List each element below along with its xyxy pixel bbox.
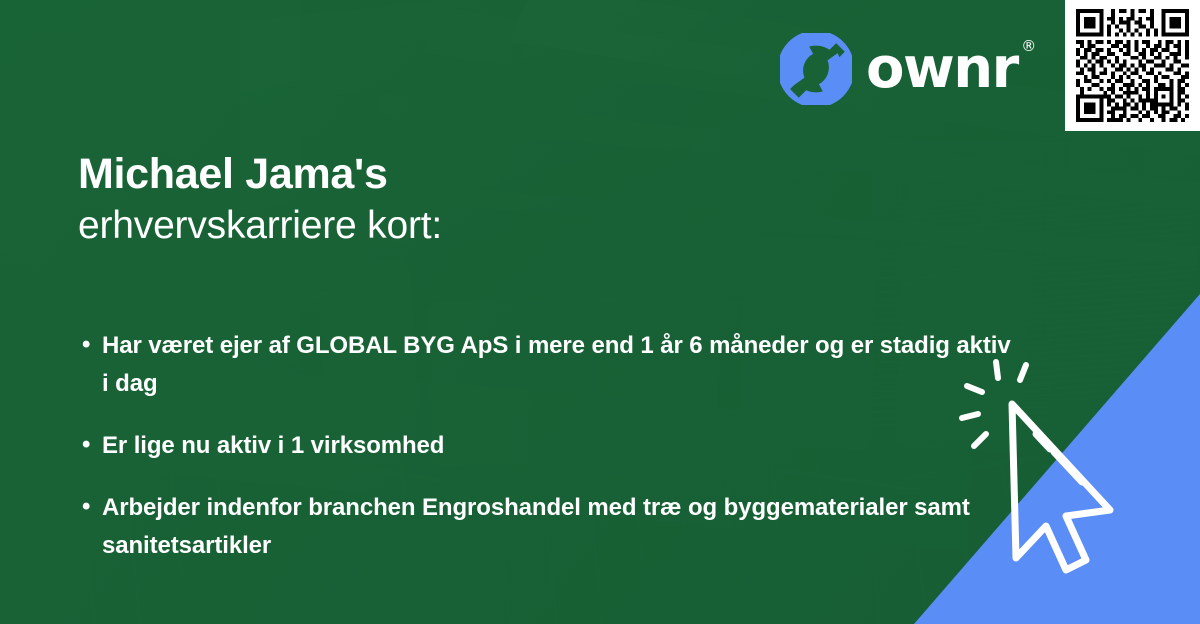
card-content: Michael Jama's erhvervskarriere kort: Ha… [78, 150, 1018, 589]
page-subtitle: erhvervskarriere kort: [78, 204, 1018, 249]
career-facts-list: Har været ejer af GLOBAL BYG ApS i mere … [78, 327, 1018, 565]
ownr-wordmark-text: ownr [866, 36, 1018, 101]
list-item: Har været ejer af GLOBAL BYG ApS i mere … [78, 327, 1018, 403]
ownr-swirl-mark [780, 33, 852, 105]
ownr-wordmark: ownr® [866, 41, 1018, 97]
qr-code[interactable] [1065, 0, 1200, 131]
ownr-logo[interactable]: ownr® [780, 33, 1018, 105]
registered-trademark-icon: ® [1021, 39, 1035, 54]
list-item: Arbejder indenfor branchen Engroshandel … [78, 489, 1018, 565]
business-card-banner: ownr® Michael Jama's erhvervskarriere ko… [0, 0, 1200, 624]
list-item: Er lige nu aktiv i 1 virksomhed [78, 427, 1018, 465]
page-title: Michael Jama's [78, 150, 1018, 198]
